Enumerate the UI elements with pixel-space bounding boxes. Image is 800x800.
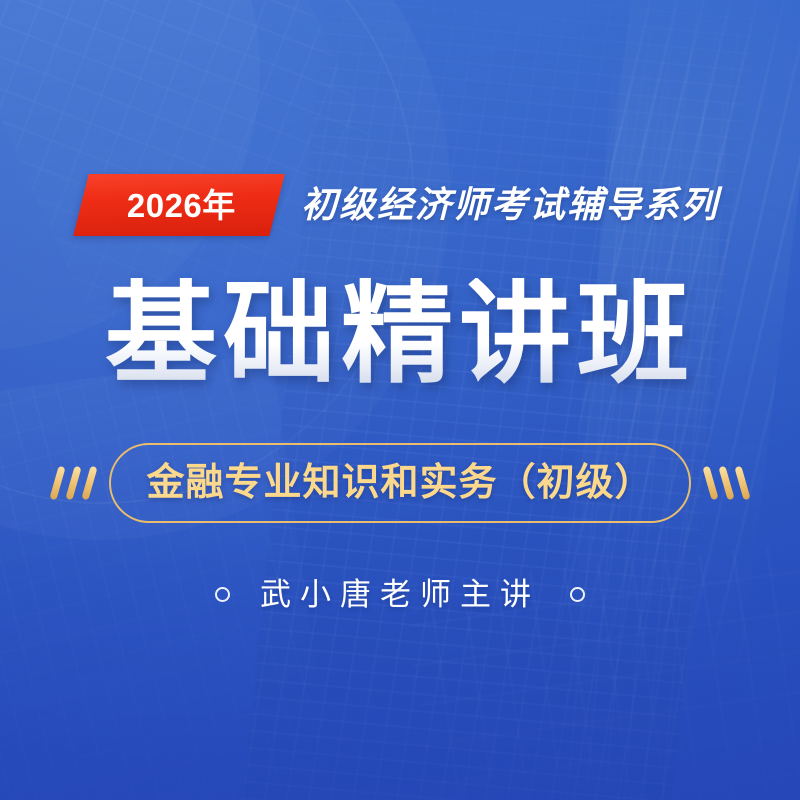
page-title: 基础精讲班 bbox=[0, 278, 800, 390]
course-poster: 2026年 初级经济师考试辅导系列 基础精讲班 金融专业知识和实务（初级） 武小… bbox=[0, 0, 800, 800]
subject-row: 金融专业知识和实务（初级） bbox=[0, 442, 800, 524]
year-badge: 2026年 bbox=[73, 174, 284, 236]
slash-mark-icon bbox=[702, 466, 718, 501]
circle-outline-icon bbox=[570, 587, 585, 602]
subject-pill-label: 金融专业知识和实务（初级） bbox=[146, 464, 653, 502]
slash-mark-icon bbox=[49, 466, 65, 501]
poster-content: 2026年 初级经济师考试辅导系列 基础精讲班 金融专业知识和实务（初级） 武小… bbox=[0, 0, 800, 800]
lecturer-label: 武小唐老师主讲 bbox=[260, 579, 540, 610]
decorative-slashes-right bbox=[707, 466, 746, 500]
slash-mark-icon bbox=[734, 466, 750, 501]
lecturer-row: 武小唐老师主讲 bbox=[0, 572, 800, 616]
series-title: 初级经济师考试辅导系列 bbox=[301, 187, 719, 223]
header-row: 2026年 初级经济师考试辅导系列 bbox=[0, 172, 800, 238]
slash-mark-icon bbox=[718, 466, 734, 501]
decorative-slashes-left bbox=[54, 466, 93, 500]
circle-outline-icon bbox=[215, 587, 230, 602]
subject-pill: 金融专业知识和实务（初级） bbox=[109, 443, 691, 523]
slash-mark-icon bbox=[65, 466, 81, 501]
year-badge-label: 2026年 bbox=[127, 189, 236, 222]
slash-mark-icon bbox=[81, 466, 97, 501]
